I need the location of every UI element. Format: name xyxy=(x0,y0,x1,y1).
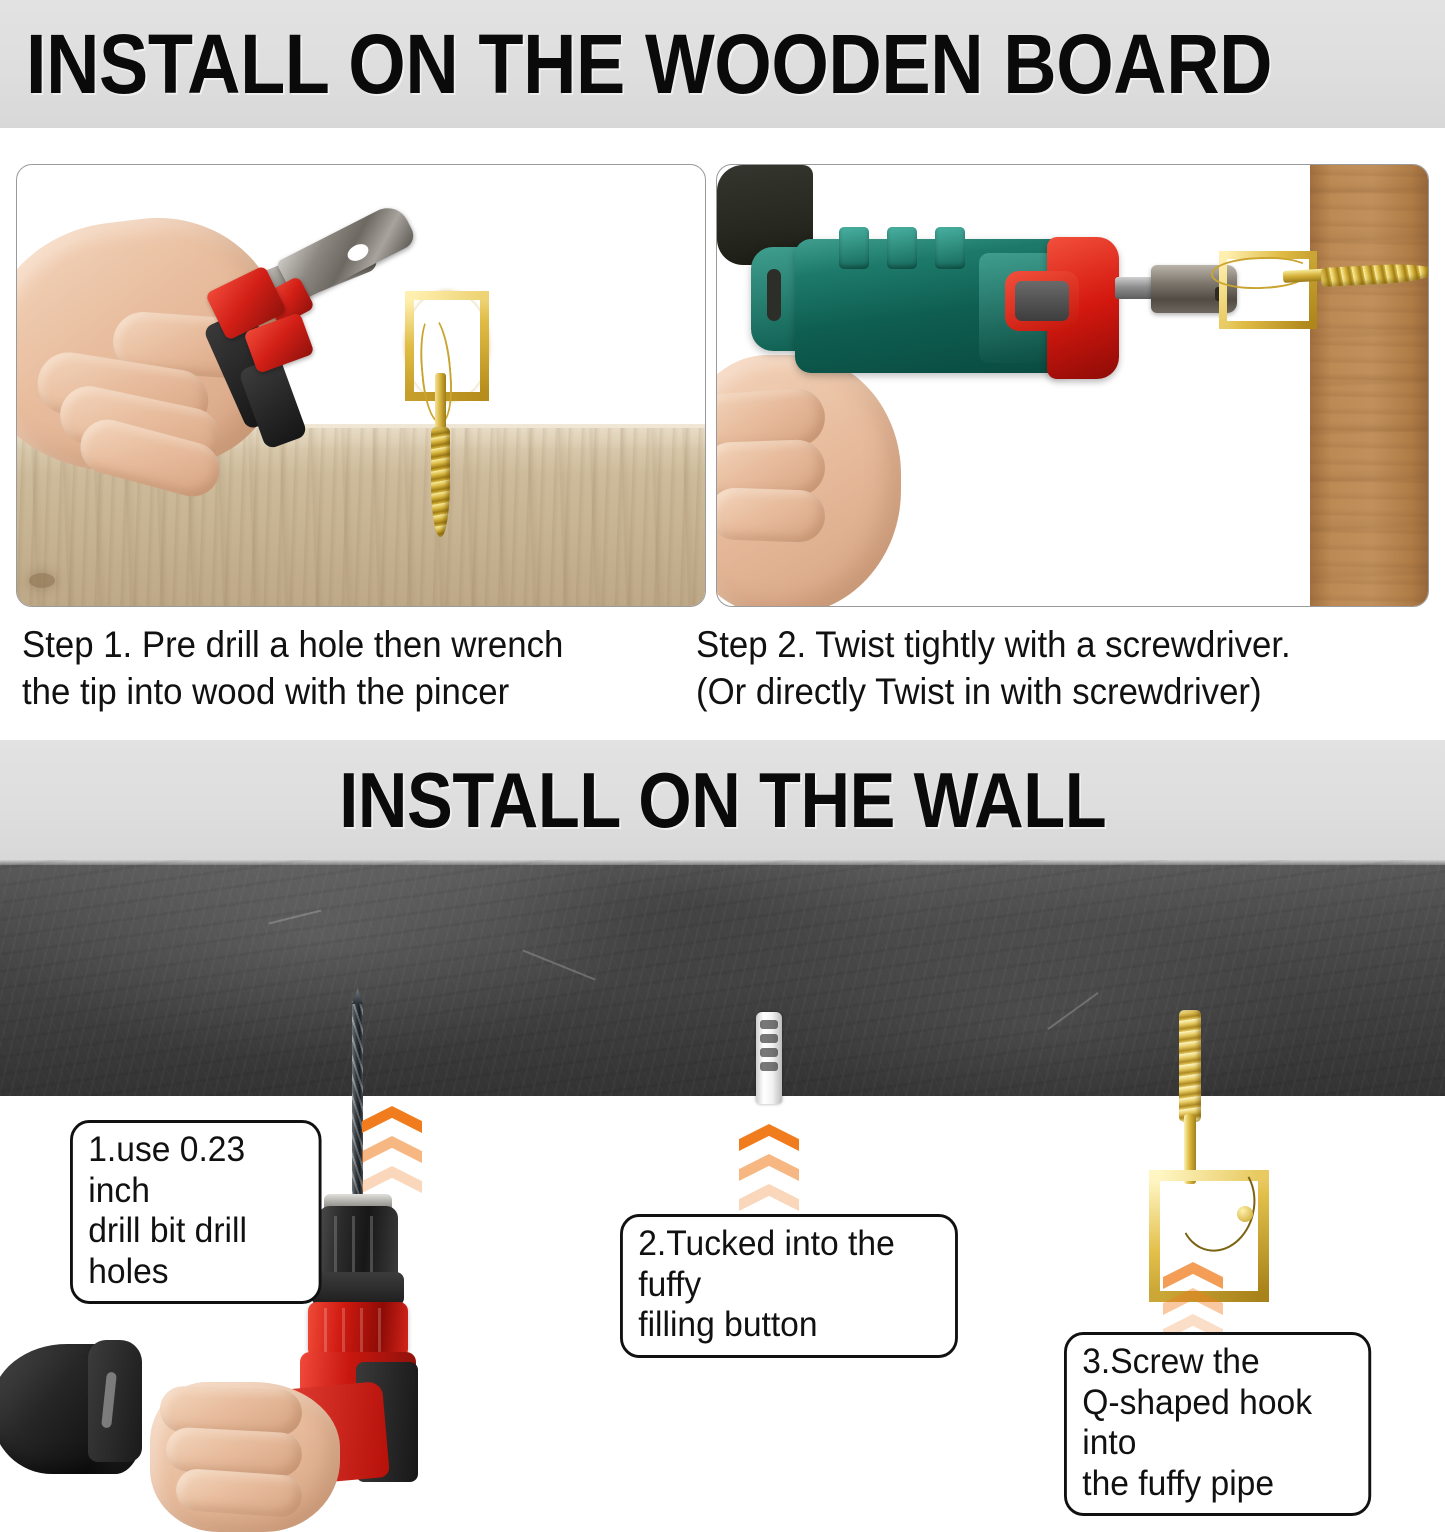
wall-plug-rib-1 xyxy=(760,1020,778,1029)
screwdriver-vent-slot xyxy=(767,269,781,321)
chevron-icon xyxy=(1163,1288,1223,1315)
clutch-rib-2 xyxy=(342,1308,345,1352)
drill-chuck-collar xyxy=(312,1272,404,1306)
chevron-icon xyxy=(362,1166,422,1193)
chevron-arrows-drill xyxy=(362,1106,422,1202)
screwdriver-vent-2 xyxy=(887,227,917,269)
gold-q-hook-thread xyxy=(1179,1010,1201,1122)
wood-post-grain-secondary xyxy=(1310,164,1429,607)
step2-caption: Step 2. Twist tightly with a screwdriver… xyxy=(696,622,1392,716)
wall-plug-rib-3 xyxy=(760,1048,778,1057)
clutch-rib-3 xyxy=(360,1308,363,1352)
step2-photo xyxy=(716,164,1429,607)
drill-battery-lip xyxy=(88,1340,142,1462)
chevron-icon xyxy=(1163,1262,1223,1289)
clutch-rib-1 xyxy=(324,1308,327,1352)
finger-2 xyxy=(165,1426,303,1477)
section-title: INSTALL ON THE WALL xyxy=(339,761,1106,839)
callout-3-screw-hook: 3.Screw the Q-shaped hook into the fuffy… xyxy=(1064,1332,1371,1516)
screwdriver-vent-1 xyxy=(839,227,869,269)
clutch-rib-4 xyxy=(378,1308,381,1352)
chevron-icon xyxy=(739,1154,799,1181)
screwdriver-switch-inner xyxy=(1015,281,1069,321)
section-header-wall: INSTALL ON THE WALL xyxy=(0,740,1445,860)
instruction-infographic: INSTALL ON THE WOODEN BOARD xyxy=(0,0,1445,1445)
screwdriver-vent-3 xyxy=(935,227,965,269)
chevron-icon xyxy=(362,1136,422,1163)
section-title: INSTALL ON THE WOODEN BOARD xyxy=(26,22,1272,106)
gold-q-hook-in-wall xyxy=(1155,1010,1275,1270)
gold-q-hook-bead xyxy=(1237,1206,1253,1222)
wall-plug xyxy=(756,1012,782,1104)
drill-clutch-ring xyxy=(308,1302,408,1358)
chevron-arrows-plug xyxy=(739,1124,799,1220)
step1-caption: Step 1. Pre drill a hole then wrench the… xyxy=(22,622,661,716)
gold-q-hook-thread xyxy=(431,427,450,537)
callout-2-wall-plug: 2.Tucked into the fuffy filling button xyxy=(620,1214,958,1358)
finger-3 xyxy=(716,487,826,543)
chevron-icon xyxy=(362,1106,422,1133)
wall-plug-rib-4 xyxy=(760,1062,778,1071)
chevron-icon xyxy=(739,1184,799,1211)
step1-photo xyxy=(16,164,706,607)
wood-post xyxy=(1310,164,1429,607)
wall-plug-rib-2 xyxy=(760,1034,778,1043)
wood-knot xyxy=(29,573,55,588)
chevron-icon xyxy=(739,1124,799,1151)
chevron-arrows-hook xyxy=(1163,1262,1223,1342)
callout-1-drill-bit: 1.use 0.23 inch drill bit drill holes xyxy=(70,1120,322,1304)
section-header-wooden-board: INSTALL ON THE WOODEN BOARD xyxy=(0,0,1445,128)
finger-3 xyxy=(175,1468,304,1519)
